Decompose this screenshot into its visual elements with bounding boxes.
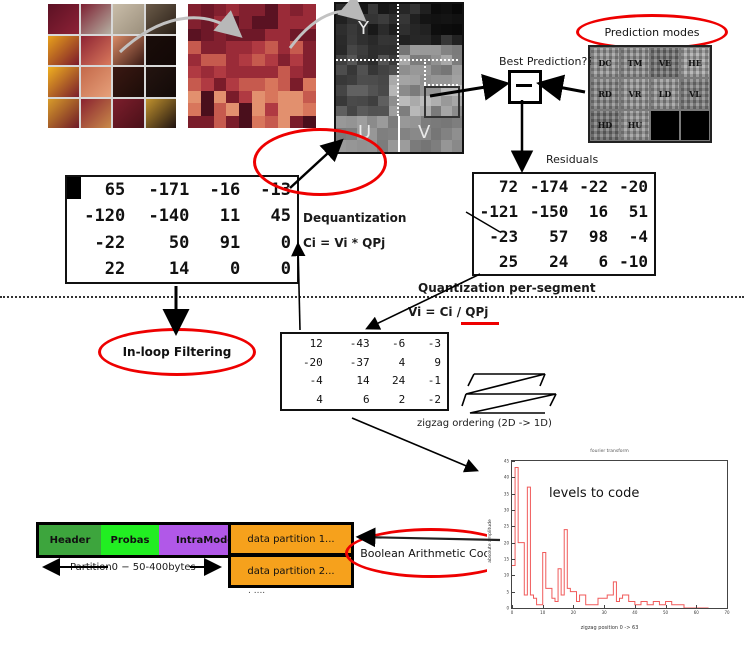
- chart-xtick-mark: [543, 605, 544, 608]
- chart-ytick-mark: [512, 477, 515, 478]
- patch-pixel: [239, 41, 252, 53]
- patch-pixel: [188, 29, 201, 41]
- patch-pixel: [278, 103, 291, 115]
- patch-pixel: [303, 116, 316, 128]
- uv-pixel: [400, 116, 410, 128]
- patch-pixel: [239, 29, 252, 41]
- zigzag-label: zigzag ordering (2D -> 1D): [417, 418, 552, 429]
- prediction-mode-rd[interactable]: RD: [590, 78, 620, 109]
- prediction-mode-vl[interactable]: VL: [680, 78, 710, 109]
- patch-pixel: [303, 66, 316, 78]
- prediction-mode-tm[interactable]: TM: [620, 47, 650, 78]
- y-pixel: [410, 24, 421, 34]
- patch-pixel: [252, 66, 265, 78]
- patch-pixel: [226, 4, 239, 16]
- matrix-cell: 50: [131, 230, 195, 256]
- chart-xtick-mark: [666, 605, 667, 608]
- chart-xtick: 10: [540, 610, 545, 615]
- patch-pixel: [303, 29, 316, 41]
- y-pixel: [347, 106, 358, 116]
- y-pixel: [410, 75, 421, 85]
- prediction-mode-empty: [680, 110, 710, 141]
- patch-pixel: [214, 66, 227, 78]
- matrix-row: -20-3749: [282, 353, 447, 372]
- matrix-cell: -22: [574, 174, 614, 199]
- chart-ytick: 10: [504, 573, 509, 578]
- y-pixel: [347, 35, 358, 45]
- partition0-bar: HeaderProbasIntraModes: [36, 522, 260, 558]
- y-pixel: [378, 106, 389, 116]
- patch-pixel: [214, 54, 227, 66]
- y-pixel: [357, 85, 368, 95]
- patch-pixel: [252, 41, 265, 53]
- y-pixel: [431, 65, 442, 75]
- patch-pixel: [290, 103, 303, 115]
- y-pixel: [378, 85, 389, 95]
- patch-pixel: [239, 103, 252, 115]
- mosaic-tile: [146, 99, 177, 129]
- y-pixel: [336, 65, 347, 75]
- matrix-cell: 6: [574, 249, 614, 274]
- uv-pixel: [441, 128, 451, 140]
- patch-pixel: [278, 54, 291, 66]
- y-pixel: [399, 45, 410, 55]
- chart-ytick-mark: [512, 559, 515, 560]
- y-pixel: [378, 65, 389, 75]
- patch-pixel: [303, 78, 316, 90]
- uv-pixel: [336, 116, 346, 128]
- matrix-cell: -140: [131, 203, 195, 229]
- patch-pixel: [265, 116, 278, 128]
- prediction-mode-hu[interactable]: HU: [620, 110, 650, 141]
- mosaic-tile: [81, 36, 112, 66]
- y-pixel: [452, 35, 463, 45]
- y-pixel: [399, 75, 410, 85]
- y-pixel: [452, 45, 463, 55]
- patch-pixel: [278, 78, 291, 90]
- prediction-modes-grid[interactable]: DCTMVEHERDVRLDVLHDHU: [588, 45, 712, 143]
- patch-pixel: [226, 91, 239, 103]
- matrix-cell: 0: [246, 230, 297, 256]
- matrix-cell: 91: [195, 230, 246, 256]
- dc-marker: [67, 177, 81, 199]
- y-pixel: [399, 106, 410, 116]
- matrix-row: 221400: [67, 256, 297, 282]
- prediction-mode-hd[interactable]: HD: [590, 110, 620, 141]
- patch-pixel: [278, 29, 291, 41]
- matrix-cell: -20: [614, 174, 654, 199]
- chart-ytick-mark: [512, 575, 515, 576]
- chart-ytick: 30: [504, 508, 509, 513]
- chart-ytick: 25: [504, 524, 509, 529]
- patch-pixel: [214, 16, 227, 28]
- chart-xtick: 30: [602, 610, 607, 615]
- uv-pixel: [452, 140, 462, 152]
- patch-pixel: [201, 91, 214, 103]
- y-pixel: [336, 106, 347, 116]
- patch-pixel: [226, 41, 239, 53]
- matrix-cell: 0: [195, 256, 246, 282]
- patch-pixel: [265, 29, 278, 41]
- patch-pixel: [214, 78, 227, 90]
- v-plane: [400, 116, 462, 152]
- patch-pixel: [226, 29, 239, 41]
- zoomed-pixel-patch: [188, 4, 316, 128]
- boolean-arithmetic-coder-label: Boolean Arithmetic Coder: [360, 547, 502, 560]
- y-pixel: [399, 4, 410, 14]
- mosaic-tile: [48, 4, 79, 34]
- patch-pixel: [303, 16, 316, 28]
- chart-title: fourier transform: [590, 449, 628, 454]
- partition0-size-label: Partition0 − 50-400bytes: [70, 562, 196, 573]
- patch-pixel: [252, 54, 265, 66]
- patch-pixel: [226, 54, 239, 66]
- chart-ytick-mark: [512, 526, 515, 527]
- matrix-row: 12-43-6-3: [282, 334, 447, 353]
- patch-pixel: [188, 4, 201, 16]
- patch-pixel: [214, 116, 227, 128]
- y-pixel: [347, 96, 358, 106]
- patch-pixel: [188, 103, 201, 115]
- patch-pixel: [278, 4, 291, 16]
- prediction-mode-ld[interactable]: LD: [650, 78, 680, 109]
- matrix-cell: 72: [474, 174, 524, 199]
- y-pixel: [347, 4, 358, 14]
- uv-pixel: [388, 128, 398, 140]
- patch-pixel: [188, 91, 201, 103]
- matrix-cell: 16: [574, 199, 614, 224]
- matrix-cell: -1: [411, 372, 447, 391]
- patch-pixel: [214, 91, 227, 103]
- y-pixel: [378, 4, 389, 14]
- y-horizontal-guide: [336, 59, 458, 61]
- patch-pixel: [303, 103, 316, 115]
- prediction-mode-label: HE: [688, 58, 702, 68]
- y-pixel: [336, 24, 347, 34]
- mosaic-tile: [113, 36, 144, 66]
- quantization-formula: Vi = Ci / QPj: [408, 305, 488, 319]
- mosaic-tile: [146, 4, 177, 34]
- patch-pixel: [239, 54, 252, 66]
- matrix-cell: 6: [329, 390, 376, 409]
- matrix-cell: -22: [67, 230, 131, 256]
- matrix-cell: -174: [524, 174, 574, 199]
- y-pixel: [431, 4, 442, 14]
- y-pixel: [441, 65, 452, 75]
- prediction-mode-he[interactable]: HE: [680, 47, 710, 78]
- patch-pixel: [303, 91, 316, 103]
- matrix-cell: 0: [246, 256, 297, 282]
- quantization-label: Quantization per-segment: [418, 281, 596, 295]
- patch-pixel: [290, 78, 303, 90]
- y-pixel: [410, 96, 421, 106]
- patch-pixel: [278, 116, 291, 128]
- patch-pixel: [214, 29, 227, 41]
- y-pixel: [368, 85, 379, 95]
- qpj-underline: [461, 322, 499, 325]
- chart-ytick: 5: [506, 589, 509, 594]
- matrix-row: 25246-10: [474, 249, 654, 274]
- patch-pixel: [252, 29, 265, 41]
- matrix-cell: -4: [614, 224, 654, 249]
- y-pixel: [399, 14, 410, 24]
- mosaic-tile: [113, 4, 144, 34]
- y-pixel: [378, 75, 389, 85]
- chart-ytick-mark: [512, 461, 515, 462]
- y-pixel: [399, 85, 410, 95]
- y-pixel: [452, 24, 463, 34]
- minus-icon: [516, 84, 532, 87]
- matrix-row: 65-171-16-13: [67, 177, 297, 203]
- matrix-cell: 24: [376, 372, 412, 391]
- matrix-cell: -6: [376, 334, 412, 353]
- patch-pixel: [201, 54, 214, 66]
- prediction-mode-label: VR: [629, 89, 642, 99]
- prediction-mode-dc[interactable]: DC: [590, 47, 620, 78]
- prediction-mode-vr[interactable]: VR: [620, 78, 650, 109]
- patch-pixel: [188, 41, 201, 53]
- mosaic-tile: [81, 4, 112, 34]
- y-pixel: [399, 96, 410, 106]
- mosaic-tile: [48, 36, 79, 66]
- patch-pixel: [214, 41, 227, 53]
- matrix-cell: 12: [282, 334, 329, 353]
- y-pixel: [410, 106, 421, 116]
- levels-histogram-chart: fourier transform absolute amplitude zig…: [487, 448, 732, 633]
- matrix-cell: 2: [376, 390, 412, 409]
- patch-pixel: [278, 66, 291, 78]
- y-pixel: [336, 75, 347, 85]
- matrix-cell: -20: [282, 353, 329, 372]
- chart-xtick-mark: [635, 605, 636, 608]
- prediction-mode-texture: [651, 111, 679, 140]
- data-partition-1: data partition 1...: [228, 522, 354, 556]
- uv-pixel: [431, 128, 441, 140]
- chart-xtick: 20: [571, 610, 576, 615]
- y-pixel: [441, 35, 452, 45]
- y-pixel: [378, 35, 389, 45]
- prediction-mode-label: HU: [628, 120, 643, 130]
- residuals-matrix: 72-174-22-20-121-1501651-235798-425246-1…: [472, 172, 656, 276]
- chart-xtick-mark: [604, 605, 605, 608]
- y-pixel: [378, 24, 389, 34]
- chart-ylabel: absolute amplitude: [488, 519, 493, 563]
- subtract-node: [508, 70, 542, 104]
- chart-xtick-mark: [727, 605, 728, 608]
- uv-pixel: [346, 116, 356, 128]
- prediction-mode-label: TM: [628, 58, 643, 68]
- matrix-cell: -150: [524, 199, 574, 224]
- matrix-cell: 22: [67, 256, 131, 282]
- dequantization-formula: Ci = Vi * QPj: [303, 236, 385, 250]
- matrix-cell: 14: [131, 256, 195, 282]
- patch-pixel: [214, 4, 227, 16]
- chart-xtick-mark: [573, 605, 574, 608]
- matrix-row: -120-1401145: [67, 203, 297, 229]
- y-pixel: [441, 24, 452, 34]
- y-pixel: [357, 65, 368, 75]
- y-pixel: [410, 45, 421, 55]
- patch-pixel: [290, 41, 303, 53]
- source-image-mosaic: [48, 4, 176, 128]
- matrix-cell: 9: [411, 353, 447, 372]
- chart-ytick: 0: [506, 606, 509, 611]
- patch-pixel: [290, 29, 303, 41]
- y-pixel: [378, 14, 389, 24]
- mosaic-tile: [48, 99, 79, 129]
- prediction-mode-empty: [650, 110, 680, 141]
- patch-pixel: [214, 103, 227, 115]
- y-pixel: [336, 96, 347, 106]
- chart-xtick: 60: [694, 610, 699, 615]
- patch-pixel: [265, 91, 278, 103]
- matrix-cell: 4: [376, 353, 412, 372]
- patch-pixel: [188, 116, 201, 128]
- y-pixel: [431, 35, 442, 45]
- y-plane-label: Y: [358, 18, 369, 39]
- matrix-cell: -37: [329, 353, 376, 372]
- matrix-cell: 98: [574, 224, 614, 249]
- matrix-row: -2250910: [67, 230, 297, 256]
- y-pixel: [399, 35, 410, 45]
- patch-pixel: [290, 91, 303, 103]
- y-pixel: [378, 96, 389, 106]
- matrix-cell: -43: [329, 334, 376, 353]
- mosaic-tile: [146, 67, 177, 97]
- in-loop-filtering-ellipse: In-loop Filtering: [98, 328, 256, 376]
- chart-xtick: 0: [511, 610, 514, 615]
- mosaic-tile: [113, 67, 144, 97]
- matrix-row: -41424-1: [282, 372, 447, 391]
- matrix-row: 72-174-22-20: [474, 174, 654, 199]
- v-plane-label: V: [418, 122, 430, 143]
- patch-pixel: [226, 103, 239, 115]
- y-pixel: [357, 75, 368, 85]
- y-pixel: [336, 4, 347, 14]
- patch-pixel: [226, 116, 239, 128]
- y-pixel: [357, 4, 368, 14]
- y-pixel: [368, 96, 379, 106]
- y-pixel: [368, 45, 379, 55]
- y-pixel: [368, 24, 379, 34]
- patch-pixel: [252, 91, 265, 103]
- y-pixel: [431, 45, 442, 55]
- y-pixel: [347, 65, 358, 75]
- y-pixel: [357, 106, 368, 116]
- y-pixel: [399, 24, 410, 34]
- y-pixel: [441, 14, 452, 24]
- best-prediction-label: Best Prediction???: [499, 55, 599, 68]
- uv-pixel: [388, 140, 398, 152]
- y-pixel: [410, 85, 421, 95]
- prediction-mode-ve[interactable]: VE: [650, 47, 680, 78]
- patch-pixel: [239, 66, 252, 78]
- chart-xtick: 50: [663, 610, 668, 615]
- chart-ytick-mark: [512, 543, 515, 544]
- matrix-cell: 51: [614, 199, 654, 224]
- patch-pixel: [303, 54, 316, 66]
- patch-pixel: [226, 78, 239, 90]
- chart-ytick: 15: [504, 557, 509, 562]
- y-pixel: [368, 106, 379, 116]
- y-pixel: [410, 35, 421, 45]
- y-pixel: [420, 14, 431, 24]
- mosaic-tile: [81, 67, 112, 97]
- y-pixel: [347, 14, 358, 24]
- y-pixel: [347, 24, 358, 34]
- data-partition-2: data partition 2...: [228, 554, 354, 588]
- dequantized-matrix-table: 65-171-16-13-120-1401145-2250910221400: [67, 177, 297, 282]
- uv-pixel: [441, 140, 451, 152]
- patch-pixel: [265, 103, 278, 115]
- y-pixel: [368, 65, 379, 75]
- y-pixel: [347, 45, 358, 55]
- matrix-cell: 14: [329, 372, 376, 391]
- levels-to-code-annotation: levels to code: [549, 486, 639, 501]
- patch-pixel: [252, 78, 265, 90]
- patch-pixel: [239, 4, 252, 16]
- patch-pixel: [278, 41, 291, 53]
- patch-pixel: [201, 78, 214, 90]
- y-pixel: [410, 4, 421, 14]
- y-pixel: [399, 65, 410, 75]
- y-pixel: [336, 35, 347, 45]
- patch-pixel: [290, 116, 303, 128]
- y-pixel: [368, 14, 379, 24]
- patch-pixel: [290, 54, 303, 66]
- patch-pixel: [290, 16, 303, 28]
- uv-pixel: [388, 116, 398, 128]
- matrix-cell: 11: [195, 203, 246, 229]
- matrix-cell: 25: [474, 249, 524, 274]
- matrix-cell: -23: [474, 224, 524, 249]
- matrix-cell: 45: [246, 203, 297, 229]
- patch-pixel: [252, 16, 265, 28]
- y-pixel: [410, 65, 421, 75]
- prediction-mode-texture: [681, 111, 709, 140]
- prediction-mode-label: VL: [689, 89, 701, 99]
- dequantization-ellipse: [253, 128, 387, 196]
- uv-pixel: [377, 128, 387, 140]
- chart-series-path: [512, 461, 727, 608]
- y-pixel: [441, 45, 452, 55]
- dequantization-label: Dequantization: [303, 211, 406, 225]
- patch-pixel: [201, 103, 214, 115]
- y-pixel: [410, 14, 421, 24]
- y-pixel: [378, 45, 389, 55]
- bitstream-block-header: Header: [39, 525, 101, 555]
- chart-ytick: 40: [504, 475, 509, 480]
- matrix-cell: -2: [411, 390, 447, 409]
- patch-pixel: [239, 16, 252, 28]
- chart-xtick: 70: [724, 610, 729, 615]
- uv-pixel: [377, 116, 387, 128]
- chart-xtick: 40: [632, 610, 637, 615]
- chart-ytick-mark: [512, 494, 515, 495]
- patch-pixel: [239, 91, 252, 103]
- y-pixel: [357, 45, 368, 55]
- patch-pixel: [201, 116, 214, 128]
- patch-pixel: [188, 16, 201, 28]
- y-pixel: [368, 35, 379, 45]
- more-partitions-ellipsis: . ....: [248, 586, 265, 596]
- chart-ytick: 35: [504, 491, 509, 496]
- prediction-mode-label: DC: [598, 58, 611, 68]
- patch-pixel: [188, 66, 201, 78]
- patch-pixel: [265, 78, 278, 90]
- patch-pixel: [265, 16, 278, 28]
- chart-xlabel: zigzag position 0 -> 63: [581, 625, 639, 631]
